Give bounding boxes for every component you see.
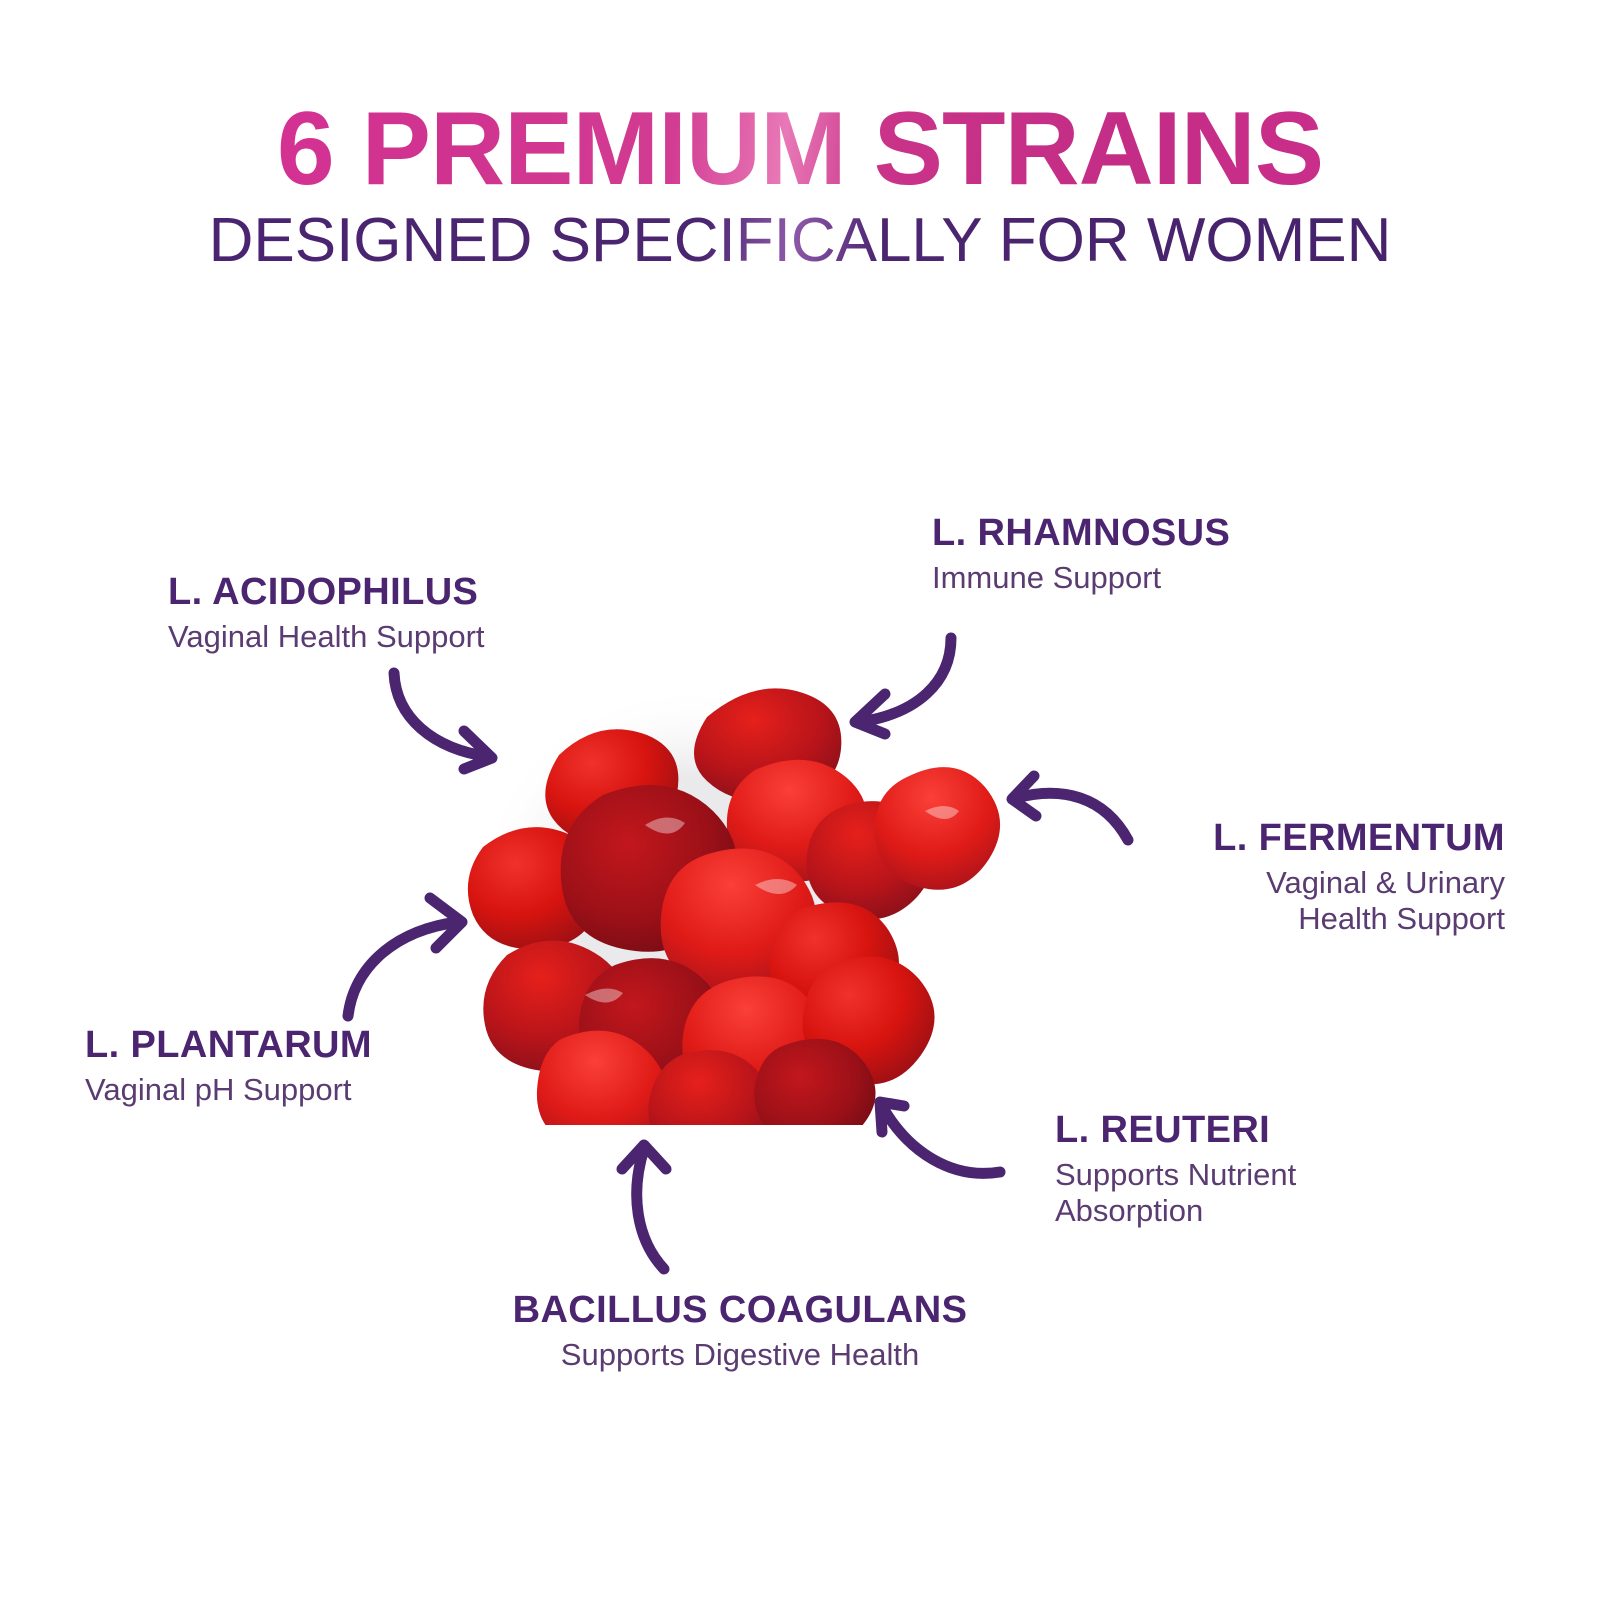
strain-label-plantarum: L. PLANTARUM Vaginal pH Support [85, 1025, 372, 1108]
page-subtitle: DESIGNED SPECIFICALLY FOR WOMEN [0, 208, 1600, 273]
strain-desc-rhamnosus: Immune Support [932, 560, 1230, 597]
strain-name-plantarum: L. PLANTARUM [85, 1025, 372, 1067]
strain-desc-reuteri-line2: Absorption [1055, 1193, 1296, 1230]
arrow-rhamnosus-icon [835, 630, 965, 740]
arrow-fermentum-icon [1000, 780, 1135, 850]
header: 6 PREMIUM STRAINS DESIGNED SPECIFICALLY … [0, 96, 1600, 273]
strain-label-rhamnosus: L. RHAMNOSUS Immune Support [932, 513, 1230, 596]
arrow-coagulans-icon [610, 1135, 700, 1275]
strain-name-coagulans: BACILLUS COAGULANS [0, 1290, 1600, 1332]
strain-desc-reuteri-line1: Supports Nutrient [1055, 1157, 1296, 1194]
strain-desc-plantarum: Vaginal pH Support [85, 1072, 372, 1109]
arrow-acidophilus-icon [380, 665, 520, 775]
strain-label-coagulans: BACILLUS COAGULANS Supports Digestive He… [0, 1290, 1600, 1373]
strain-desc-fermentum-line1: Vaginal & Urinary [1213, 865, 1505, 902]
page-title: 6 PREMIUM STRAINS [0, 96, 1600, 202]
strain-desc-coagulans: Supports Digestive Health [0, 1337, 1600, 1374]
strain-label-reuteri: L. REUTERI Supports Nutrient Absorption [1055, 1110, 1296, 1230]
infographic-canvas: 6 PREMIUM STRAINS DESIGNED SPECIFICALLY … [0, 0, 1600, 1600]
strain-name-reuteri: L. REUTERI [1055, 1110, 1296, 1152]
strain-label-fermentum: L. FERMENTUM Vaginal & Urinary Health Su… [1213, 818, 1505, 938]
strain-name-fermentum: L. FERMENTUM [1213, 818, 1505, 860]
strain-name-rhamnosus: L. RHAMNOSUS [932, 513, 1230, 555]
strain-desc-fermentum-line2: Health Support [1213, 901, 1505, 938]
strain-desc-acidophilus: Vaginal Health Support [168, 619, 485, 656]
strain-label-acidophilus: L. ACIDOPHILUS Vaginal Health Support [168, 572, 485, 655]
arrow-reuteri-icon [860, 1080, 1010, 1190]
separate-gummy [875, 767, 1000, 890]
strain-name-acidophilus: L. ACIDOPHILUS [168, 572, 485, 614]
arrow-plantarum-icon [330, 900, 480, 1020]
